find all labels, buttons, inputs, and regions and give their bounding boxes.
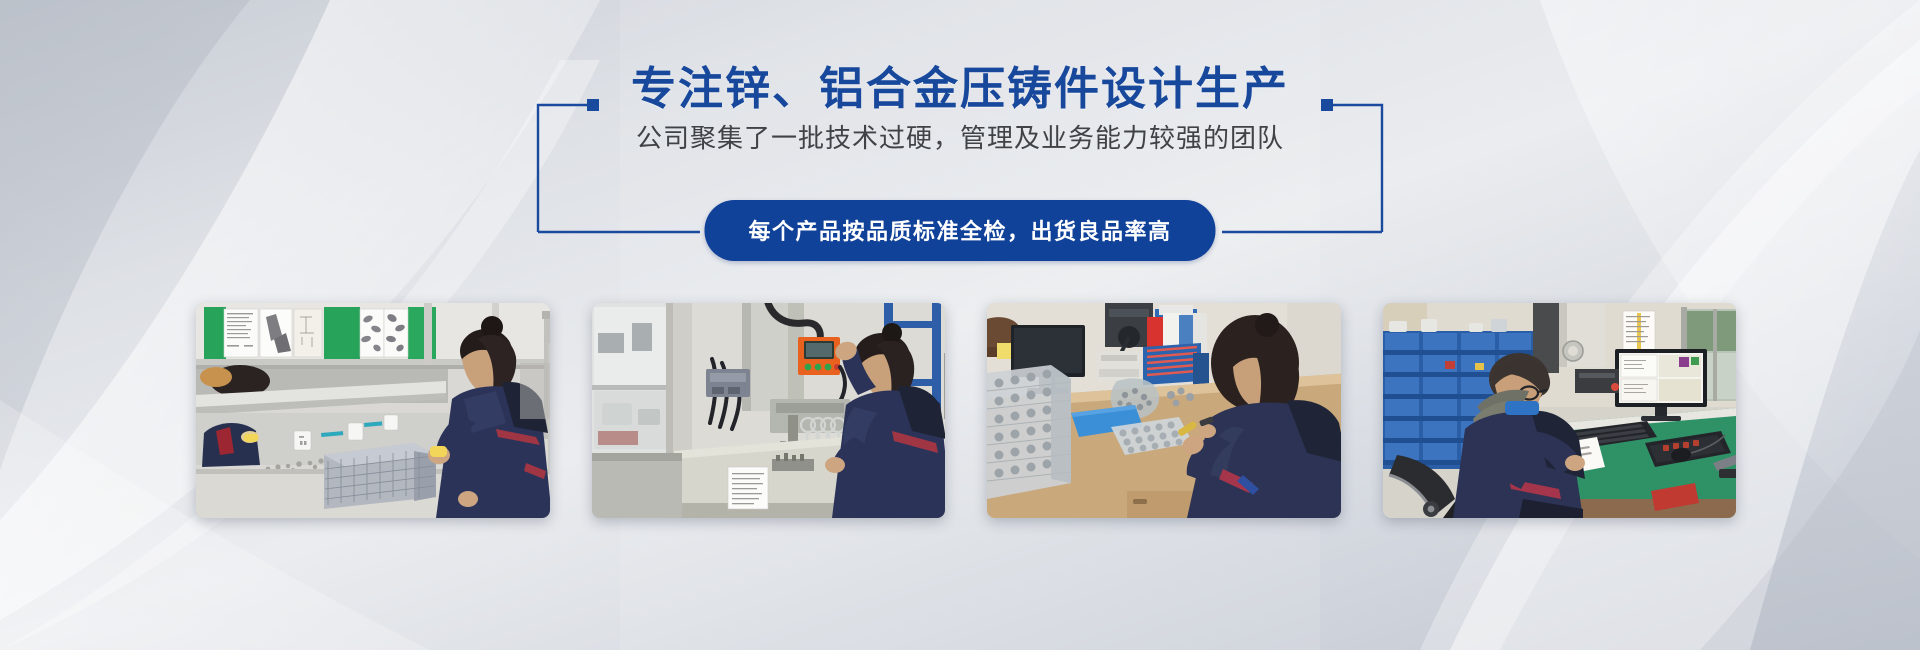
banner-section: 专注锌、铝合金压铸件设计生产 公司聚集了一批技术过硬，管理及业务能力较强的团队 … (0, 0, 1920, 650)
photo-office-workstation-image (1383, 303, 1737, 518)
quality-badge: 每个产品按品质标准全检，出货良品率高 (704, 200, 1215, 261)
photo-office-workstation (1383, 303, 1737, 518)
photo-machine-operation-image (592, 303, 946, 518)
photo-quality-inspection-image (987, 303, 1341, 518)
photo-strip (196, 303, 1736, 518)
photo-quality-inspection (987, 303, 1341, 518)
photo-assembly-bench-image (196, 303, 550, 518)
photo-assembly-bench (196, 303, 550, 518)
page-title: 专注锌、铝合金压铸件设计生产 (0, 52, 1920, 117)
banner-header: 专注锌、铝合金压铸件设计生产 公司聚集了一批技术过硬，管理及业务能力较强的团队 … (0, 0, 1920, 260)
page-subtitle: 公司聚集了一批技术过硬，管理及业务能力较强的团队 (0, 118, 1920, 155)
photo-machine-operation (592, 303, 946, 518)
